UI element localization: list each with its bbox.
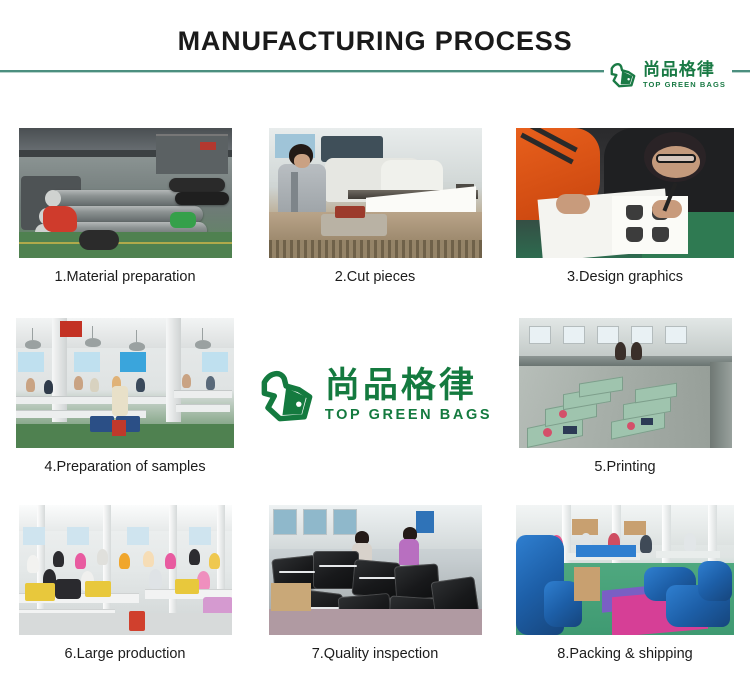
- header-logo-text: 尚品格律 TOP GREEN BAGS: [643, 62, 726, 89]
- green-bag-logo-icon: [258, 367, 316, 425]
- center-logo: 尚品格律 TOP GREEN BAGS: [258, 367, 492, 425]
- process-grid: 1.Material preparation 2.Cut pieces: [0, 112, 750, 679]
- header-logo-english: TOP GREEN BAGS: [643, 81, 726, 89]
- photo-design-graphics: [516, 128, 734, 258]
- photo-cut-pieces: [269, 128, 482, 258]
- process-step-7: 7.Quality inspection: [250, 489, 500, 679]
- page-title: MANUFACTURING PROCESS: [0, 26, 750, 57]
- photo-printing: [519, 318, 732, 448]
- photo-sign-a-group: [60, 321, 82, 337]
- green-bag-logo-icon: [608, 60, 638, 90]
- center-logo-text: 尚品格律 TOP GREEN BAGS: [325, 369, 492, 423]
- photo-material-preparation: [19, 128, 232, 258]
- caption-step-1: 1.Material preparation: [54, 269, 195, 285]
- header-logo-chinese: 尚品格律: [643, 62, 726, 79]
- caption-step-5: 5.Printing: [594, 459, 655, 475]
- process-step-4: 4.Preparation of samples: [0, 302, 250, 489]
- caption-step-8: 8.Packing & shipping: [557, 646, 692, 662]
- caption-step-3: 3.Design graphics: [567, 269, 683, 285]
- center-logo-cell: 尚品格律 TOP GREEN BAGS: [250, 302, 500, 489]
- photo-large-production: [19, 505, 232, 635]
- header-logo: 尚品格律 TOP GREEN BAGS: [604, 58, 732, 92]
- caption-step-4: 4.Preparation of samples: [44, 459, 205, 475]
- photo-quality-inspection: [269, 505, 482, 635]
- photo-packing-shipping: [516, 505, 734, 635]
- photo-preparation-of-samples: [16, 318, 234, 448]
- process-step-8: 8.Packing & shipping: [500, 489, 750, 679]
- process-step-1: 1.Material preparation: [0, 112, 250, 302]
- center-logo-chinese: 尚品格律: [325, 369, 492, 404]
- page-header: MANUFACTURING PROCESS 尚品格律 TOP GREEN BAG…: [0, 0, 750, 112]
- process-step-5: 5.Printing: [500, 302, 750, 489]
- caption-step-7: 7.Quality inspection: [312, 646, 439, 662]
- process-step-2: 2.Cut pieces: [250, 112, 500, 302]
- caption-step-2: 2.Cut pieces: [335, 269, 416, 285]
- process-step-6: 6.Large production: [0, 489, 250, 679]
- process-step-3: 3.Design graphics: [500, 112, 750, 302]
- center-logo-english: TOP GREEN BAGS: [325, 408, 492, 423]
- caption-step-6: 6.Large production: [65, 646, 186, 662]
